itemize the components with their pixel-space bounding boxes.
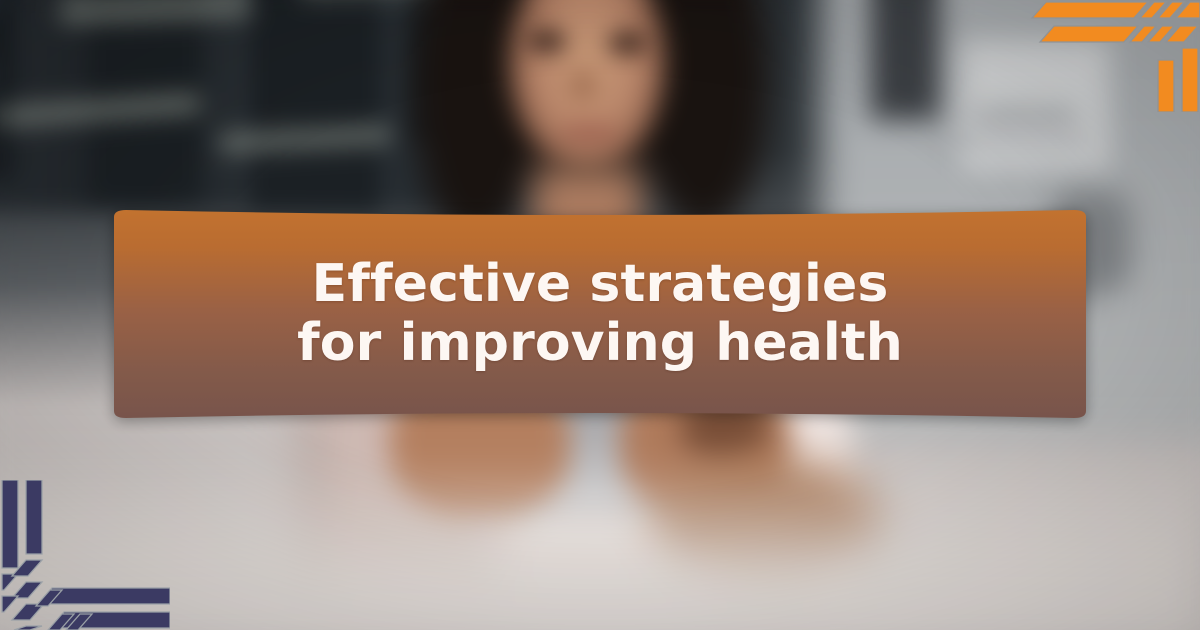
banner-text-container: Effective strategies for improving healt… [100,208,1100,420]
title-banner: Effective strategies for improving healt… [100,208,1100,420]
corner-bracket-bottom-left [0,480,170,630]
page-title: Effective strategies for improving healt… [290,255,910,373]
corner-bracket-top-right [1030,0,1200,112]
share-card: Effective strategies for improving healt… [0,0,1200,630]
